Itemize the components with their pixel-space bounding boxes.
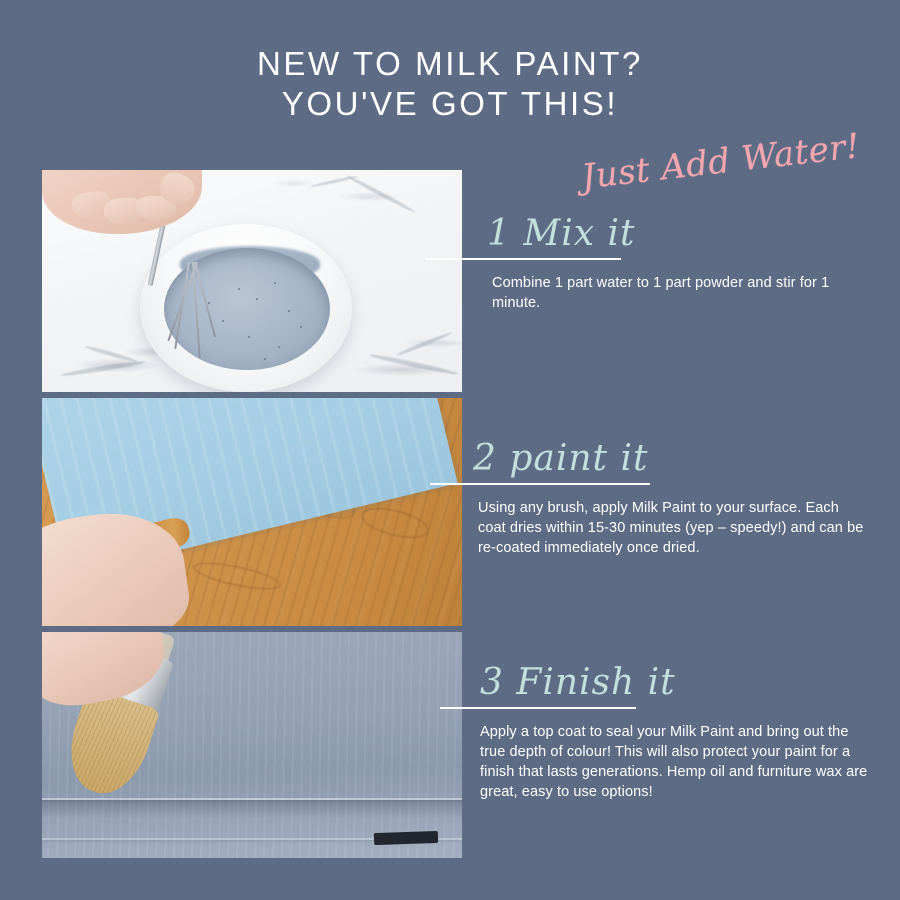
paint-speck <box>300 326 302 328</box>
photo-step-2-paint <box>42 398 462 626</box>
step-3: 3 Finish it Apply a top coat to seal you… <box>480 661 880 802</box>
step-1: 1 Mix it Combine 1 part water to 1 part … <box>487 212 847 313</box>
paint-speck <box>238 288 240 290</box>
paint-speck <box>278 346 280 348</box>
tagline-just-add-water: Just Add Water! <box>580 126 863 197</box>
photo-step-1-mix <box>42 170 462 392</box>
step-3-body: Apply a top coat to seal your Milk Paint… <box>480 722 870 802</box>
step-3-rule <box>440 707 636 709</box>
photo-step-3-finish <box>42 632 462 858</box>
step-2-rule <box>430 483 650 485</box>
paint-speck <box>248 336 250 338</box>
step-2-title: 2 paint it <box>473 437 873 481</box>
paint-speck <box>264 358 266 360</box>
title-line-2: YOU'VE GOT THIS! <box>0 84 900 124</box>
infographic-poster: NEW TO MILK PAINT? YOU'VE GOT THIS! Just… <box>0 0 900 900</box>
step-2-body: Using any brush, apply Milk Paint to you… <box>478 498 868 558</box>
step-3-title: 3 Finish it <box>480 661 880 705</box>
title-line-1: NEW TO MILK PAINT? <box>257 45 643 82</box>
photo-2-canvas <box>42 398 462 626</box>
photo-3-canvas <box>42 632 462 858</box>
paint-speck <box>288 310 290 312</box>
step-1-rule <box>425 258 621 260</box>
paint-speck <box>256 298 258 300</box>
paint-speck <box>274 282 276 284</box>
photo-1-canvas <box>42 170 462 392</box>
paint-speck <box>222 320 224 322</box>
paint-speck <box>208 302 210 304</box>
step-2: 2 paint it Using any brush, apply Milk P… <box>473 437 873 558</box>
step-1-title: 1 Mix it <box>487 212 847 256</box>
step-1-body: Combine 1 part water to 1 part powder an… <box>492 273 842 313</box>
page-title: NEW TO MILK PAINT? YOU'VE GOT THIS! <box>0 44 900 124</box>
dark-edge-detail <box>374 831 438 845</box>
